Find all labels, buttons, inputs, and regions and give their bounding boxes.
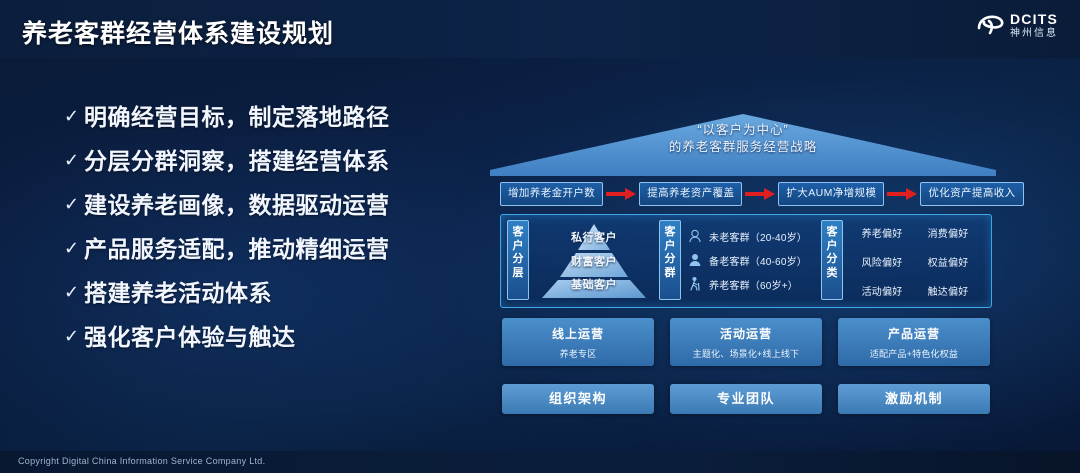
list-item: 养老客群（60岁+） <box>687 272 817 296</box>
list-item: ✓ 建设养老画像，数据驱动运营 <box>64 192 464 219</box>
goal-step: 扩大AUM净增规模 <box>778 182 884 206</box>
category-label: 客 户 分 类 <box>821 220 843 300</box>
list-item-label: 分层分群洞察，搭建经营体系 <box>84 148 390 175</box>
list-item: ✓ 明确经营目标，制定落地路径 <box>64 104 464 131</box>
arrow-right-icon <box>606 188 636 200</box>
segment-label-c1: 户 <box>660 240 680 254</box>
operation-subtitle: 适配产品+特色化权益 <box>838 347 990 360</box>
check-icon: ✓ <box>64 280 84 306</box>
list-item-label: 明确经营目标，制定落地路径 <box>84 104 390 131</box>
segment-label-c3: 群 <box>660 267 680 281</box>
segment-row-label: 未老客群（20-40岁） <box>709 229 807 244</box>
tier-label: 客 户 分 层 <box>507 220 529 300</box>
list-item: ✓ 分层分群洞察，搭建经营体系 <box>64 148 464 175</box>
category-label-c2: 分 <box>822 253 842 267</box>
category-tag: 权益偏好 <box>915 254 981 269</box>
segment-row-label: 备老客群（40-60岁） <box>709 253 807 268</box>
check-icon: ✓ <box>64 104 84 130</box>
goal-step: 增加养老金开户数 <box>500 182 603 206</box>
roof-slogan-line1: “以客户为中心” <box>490 122 996 139</box>
tier-label-c3: 层 <box>508 267 528 281</box>
customer-analysis-panel: 客 户 分 层 <box>500 214 992 308</box>
category-tag: 消费偏好 <box>915 225 981 240</box>
category-label-c1: 户 <box>822 240 842 254</box>
slide-header: 养老客群经营体系建设规划 DCITS 神州信息 <box>0 0 1080 58</box>
operation-subtitle: 主题化、场景化+线上线下 <box>670 347 822 360</box>
logo-text-cn: 神州信息 <box>1010 29 1058 39</box>
list-item: ✓ 产品服务适配，推动精细运营 <box>64 236 464 263</box>
operations-row: 线上运营 养老专区 活动运营 主题化、场景化+线上线下 产品运营 适配产品+特色… <box>502 318 990 366</box>
logo-text-en: DCITS <box>1010 12 1058 26</box>
operation-card: 产品运营 适配产品+特色化权益 <box>838 318 990 366</box>
check-icon: ✓ <box>64 324 84 350</box>
tier-label-c1: 户 <box>508 240 528 254</box>
page-title: 养老客群经营体系建设规划 <box>22 14 334 50</box>
copyright-text: Copyright Digital China Information Serv… <box>18 456 265 466</box>
segment-label-c2: 分 <box>660 253 680 267</box>
operation-card: 活动运营 主题化、场景化+线上线下 <box>670 318 822 366</box>
slide-footer: Copyright Digital China Information Serv… <box>0 451 1080 473</box>
tier-label-c0: 客 <box>508 226 528 240</box>
roof-slogan-line2: 的养老客群服务经营战略 <box>490 139 996 156</box>
category-tag: 触达偏好 <box>915 283 981 298</box>
list-item-label: 建设养老画像，数据驱动运营 <box>84 192 390 219</box>
tier-level-label: 财富客户 <box>535 253 653 269</box>
arrow-right-icon <box>745 188 775 200</box>
operation-title: 线上运营 <box>502 325 654 342</box>
list-item: ✓ 强化客户体验与触达 <box>64 324 464 351</box>
operation-title: 活动运营 <box>670 325 822 342</box>
strategy-diagram: “以客户为中心” 的养老客群服务经营战略 增加养老金开户数 提高养老资产覆盖 扩… <box>490 86 996 436</box>
foundation-card: 专业团队 <box>670 384 822 414</box>
category-tag-grid: 养老偏好 消费偏好 风险偏好 权益偏好 活动偏好 触达偏好 <box>849 225 981 298</box>
operation-card: 线上运营 养老专区 <box>502 318 654 366</box>
foundation-row: 组织架构 专业团队 激励机制 <box>502 384 990 414</box>
segment-list: 未老客群（20-40岁） 备老客群（40-60岁） <box>687 224 817 296</box>
slide-canvas: 养老客群经营体系建设规划 DCITS 神州信息 ✓ 明确经营目标，制定落地路径 … <box>0 0 1080 473</box>
category-tag: 风险偏好 <box>849 254 915 269</box>
goal-step: 提高养老资产覆盖 <box>639 182 742 206</box>
swirl-logo-icon <box>976 13 1004 39</box>
operation-title: 产品运营 <box>838 325 990 342</box>
list-item-label: 强化客户体验与触达 <box>84 324 296 351</box>
tier-level-label: 私行客户 <box>535 229 653 245</box>
check-icon: ✓ <box>64 192 84 218</box>
goal-step: 优化资产提高收入 <box>920 182 1023 206</box>
key-points-list: ✓ 明确经营目标，制定落地路径 ✓ 分层分群洞察，搭建经营体系 ✓ 建设养老画像… <box>64 104 464 368</box>
foundation-card: 激励机制 <box>838 384 990 414</box>
segment-label: 客 户 分 群 <box>659 220 681 300</box>
check-icon: ✓ <box>64 148 84 174</box>
tier-level-label: 基础客户 <box>535 276 653 292</box>
list-item-label: 搭建养老活动体系 <box>84 280 272 307</box>
list-item: 备老客群（40-60岁） <box>687 248 817 272</box>
category-label-c0: 客 <box>822 226 842 240</box>
check-icon: ✓ <box>64 236 84 262</box>
adult-person-icon <box>687 252 703 268</box>
roof-slogan: “以客户为中心” 的养老客群服务经营战略 <box>490 122 996 156</box>
category-tag: 活动偏好 <box>849 283 915 298</box>
category-tag: 养老偏好 <box>849 225 915 240</box>
arrow-right-icon <box>887 188 917 200</box>
foundation-card: 组织架构 <box>502 384 654 414</box>
segment-label-c0: 客 <box>660 226 680 240</box>
company-logo: DCITS 神州信息 <box>976 12 1058 39</box>
list-item: 未老客群（20-40岁） <box>687 224 817 248</box>
young-person-icon <box>687 228 703 244</box>
operation-subtitle: 养老专区 <box>502 347 654 360</box>
tier-label-c2: 分 <box>508 253 528 267</box>
list-item: ✓ 搭建养老活动体系 <box>64 280 464 307</box>
elderly-person-icon <box>687 276 703 292</box>
category-label-c3: 类 <box>822 267 842 281</box>
goal-chain: 增加养老金开户数 提高养老资产覆盖 扩大AUM净增规模 优化资产提高收入 <box>500 182 990 206</box>
list-item-label: 产品服务适配，推动精细运营 <box>84 236 390 263</box>
segment-row-label: 养老客群（60岁+） <box>709 277 798 292</box>
